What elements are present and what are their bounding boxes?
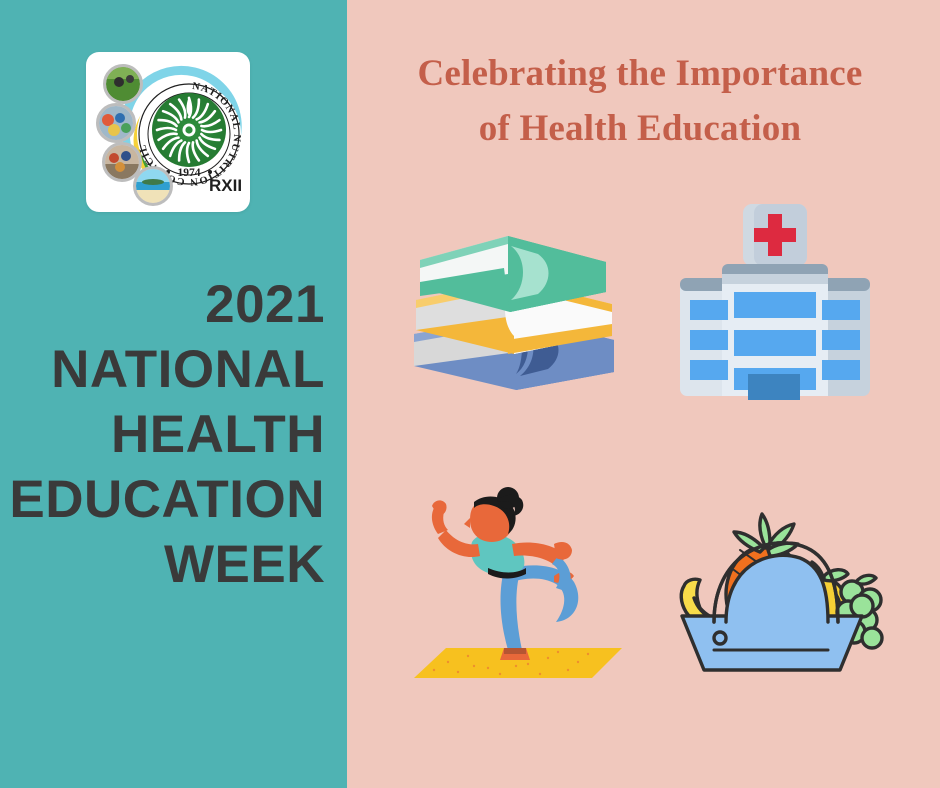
title-line-2: of Health Education [370, 101, 910, 156]
headline-line-education: EDUCATION [0, 467, 325, 532]
hospital-building-icon [672, 196, 878, 400]
nnc-logo-card: NATIONAL NUTRITION COUNCIL [86, 52, 250, 212]
stack-of-books-icon [398, 212, 630, 398]
headline-line-health: HEALTH [0, 402, 325, 467]
headline-line-national: NATIONAL [0, 337, 325, 402]
fruit-basket-icon [656, 482, 888, 678]
headline-line-year: 2021 [0, 272, 325, 337]
logo-year: 1974 [178, 167, 201, 179]
title-line-1: Celebrating the Importance [370, 46, 910, 101]
nnc-logo-icon: NATIONAL NUTRITION COUNCIL [86, 52, 250, 212]
page-title: Celebrating the Importance of Health Edu… [370, 46, 910, 156]
event-headline: 2021 NATIONAL HEALTH EDUCATION WEEK [0, 272, 325, 597]
yoga-woman-icon [408, 482, 632, 686]
poster-canvas: NATIONAL NUTRITION COUNCIL [0, 0, 940, 788]
logo-region: RXII [209, 176, 242, 195]
headline-line-week: WEEK [0, 532, 325, 597]
